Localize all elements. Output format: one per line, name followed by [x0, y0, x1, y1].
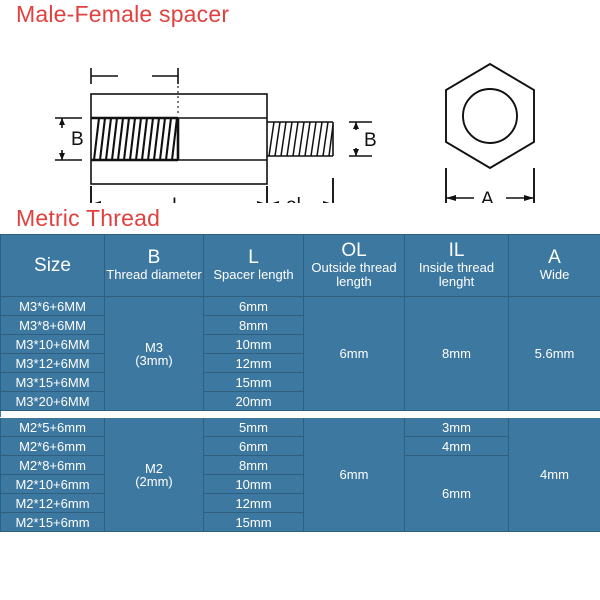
column-header-title: B: [106, 248, 202, 268]
label-a: A: [481, 189, 494, 203]
ol-arrow-right: [323, 201, 333, 203]
cell-spacer-length: 10mm: [204, 335, 304, 354]
l-arrow-left: [91, 201, 101, 203]
thread-diameter-mm: (2mm): [105, 475, 203, 488]
cell-spacer-length: 12mm: [204, 494, 304, 513]
external-thread-hatching: [269, 122, 333, 156]
cell-inside-thread-length: 6mm: [405, 456, 509, 532]
spacer-technical-drawing: B B L: [0, 28, 600, 203]
cell-wide: 5.6mm: [509, 297, 600, 411]
spec-table-body: SizeBThread diameterLSpacer lengthOLOuts…: [1, 235, 600, 532]
cell-spacer-length: 8mm: [204, 316, 304, 335]
spec-sheet-page: Male-Female spacer: [0, 0, 600, 600]
thread-diameter-value: M3: [105, 341, 203, 354]
cell-size: M2*12+6mm: [1, 494, 105, 513]
page-title-spacer: Male-Female spacer: [16, 1, 229, 28]
column-header-b: BThread diameter: [105, 235, 204, 297]
section-separator-cell: [1, 411, 600, 418]
cell-size: M2*6+6mm: [1, 437, 105, 456]
column-header-subtitle: Inside thread lenght: [406, 261, 507, 290]
cell-spacer-length: 8mm: [204, 456, 304, 475]
cell-spacer-length: 5mm: [204, 418, 304, 437]
table-row: M3*6+6MMM3(3mm)6mm6mm8mm5.6mm: [1, 297, 600, 316]
cell-size: M2*15+6mm: [1, 513, 105, 532]
cell-spacer-length: 15mm: [204, 513, 304, 532]
spec-table-header-row: SizeBThread diameterLSpacer lengthOLOuts…: [1, 235, 600, 297]
thread-diameter-mm: (3mm): [105, 354, 203, 367]
section-separator: [1, 411, 600, 418]
cell-spacer-length: 6mm: [204, 437, 304, 456]
cell-inside-thread-length: 4mm: [405, 437, 509, 456]
cell-size: M3*15+6MM: [1, 373, 105, 392]
cell-size: M2*10+6mm: [1, 475, 105, 494]
column-header-title: A: [510, 248, 599, 268]
label-ol: ol: [286, 195, 301, 203]
label-b-right: B: [364, 130, 377, 151]
cell-size: M3*6+6MM: [1, 297, 105, 316]
cell-spacer-length: 6mm: [204, 297, 304, 316]
column-header-ol: OLOutside thread length: [304, 235, 405, 297]
cell-size: M2*5+6mm: [1, 418, 105, 437]
cell-size: M3*20+6MM: [1, 392, 105, 411]
cell-inside-thread-length: 3mm: [405, 418, 509, 437]
b-right-arrow-down: [353, 149, 359, 156]
metric-thread-spec-table: SizeBThread diameterLSpacer lengthOLOuts…: [0, 234, 600, 532]
spec-table: SizeBThread diameterLSpacer lengthOLOuts…: [0, 234, 600, 532]
cell-spacer-length: 15mm: [204, 373, 304, 392]
cell-size: M3*10+6MM: [1, 335, 105, 354]
column-header-subtitle: Outside thread length: [305, 261, 403, 290]
cell-wide: 4mm: [509, 418, 600, 532]
column-header-subtitle: Spacer length: [205, 268, 302, 283]
table-row: M2*5+6mmM2(2mm)5mm6mm3mm4mm: [1, 418, 600, 437]
column-header-title: IL: [406, 241, 507, 261]
drawing-svg: B B L: [0, 28, 600, 203]
a-arrow-left: [446, 195, 456, 201]
b-left-arrow-up: [59, 118, 65, 125]
cell-thread-diameter: M2(2mm): [105, 418, 204, 532]
cell-outside-thread-length: 6mm: [304, 297, 405, 411]
hex-outline: [446, 64, 534, 168]
thread-diameter-value: M2: [105, 462, 203, 475]
cell-size: M3*8+6MM: [1, 316, 105, 335]
cell-outside-thread-length: 6mm: [304, 418, 405, 532]
page-title-metric: Metric Thread: [16, 205, 160, 232]
cell-spacer-length: 10mm: [204, 475, 304, 494]
column-header-a: AWide: [509, 235, 600, 297]
cell-size: M3*12+6MM: [1, 354, 105, 373]
internal-thread-hatching: [94, 118, 177, 160]
column-header-il: ILInside thread lenght: [405, 235, 509, 297]
column-header-size: Size: [1, 235, 105, 297]
cell-spacer-length: 20mm: [204, 392, 304, 411]
column-header-title: Size: [2, 256, 103, 276]
cell-size: M2*8+6mm: [1, 456, 105, 475]
b-right-arrow-up: [353, 122, 359, 129]
label-b-left: B: [71, 129, 84, 150]
column-header-subtitle: Wide: [510, 268, 599, 283]
cell-spacer-length: 12mm: [204, 354, 304, 373]
column-header-subtitle: Thread diameter: [106, 268, 202, 283]
column-header-title: OL: [305, 241, 403, 261]
label-l: L: [172, 195, 183, 203]
column-header-l: LSpacer length: [204, 235, 304, 297]
cell-thread-diameter: M3(3mm): [105, 297, 204, 411]
l-arrow-right: [257, 201, 267, 203]
b-left-arrow-down: [59, 153, 65, 160]
column-header-title: L: [205, 248, 302, 268]
hex-bore-circle: [463, 89, 517, 143]
ol-arrow-left: [269, 201, 279, 203]
cell-inside-thread-length: 8mm: [405, 297, 509, 411]
a-arrow-right: [524, 195, 534, 201]
